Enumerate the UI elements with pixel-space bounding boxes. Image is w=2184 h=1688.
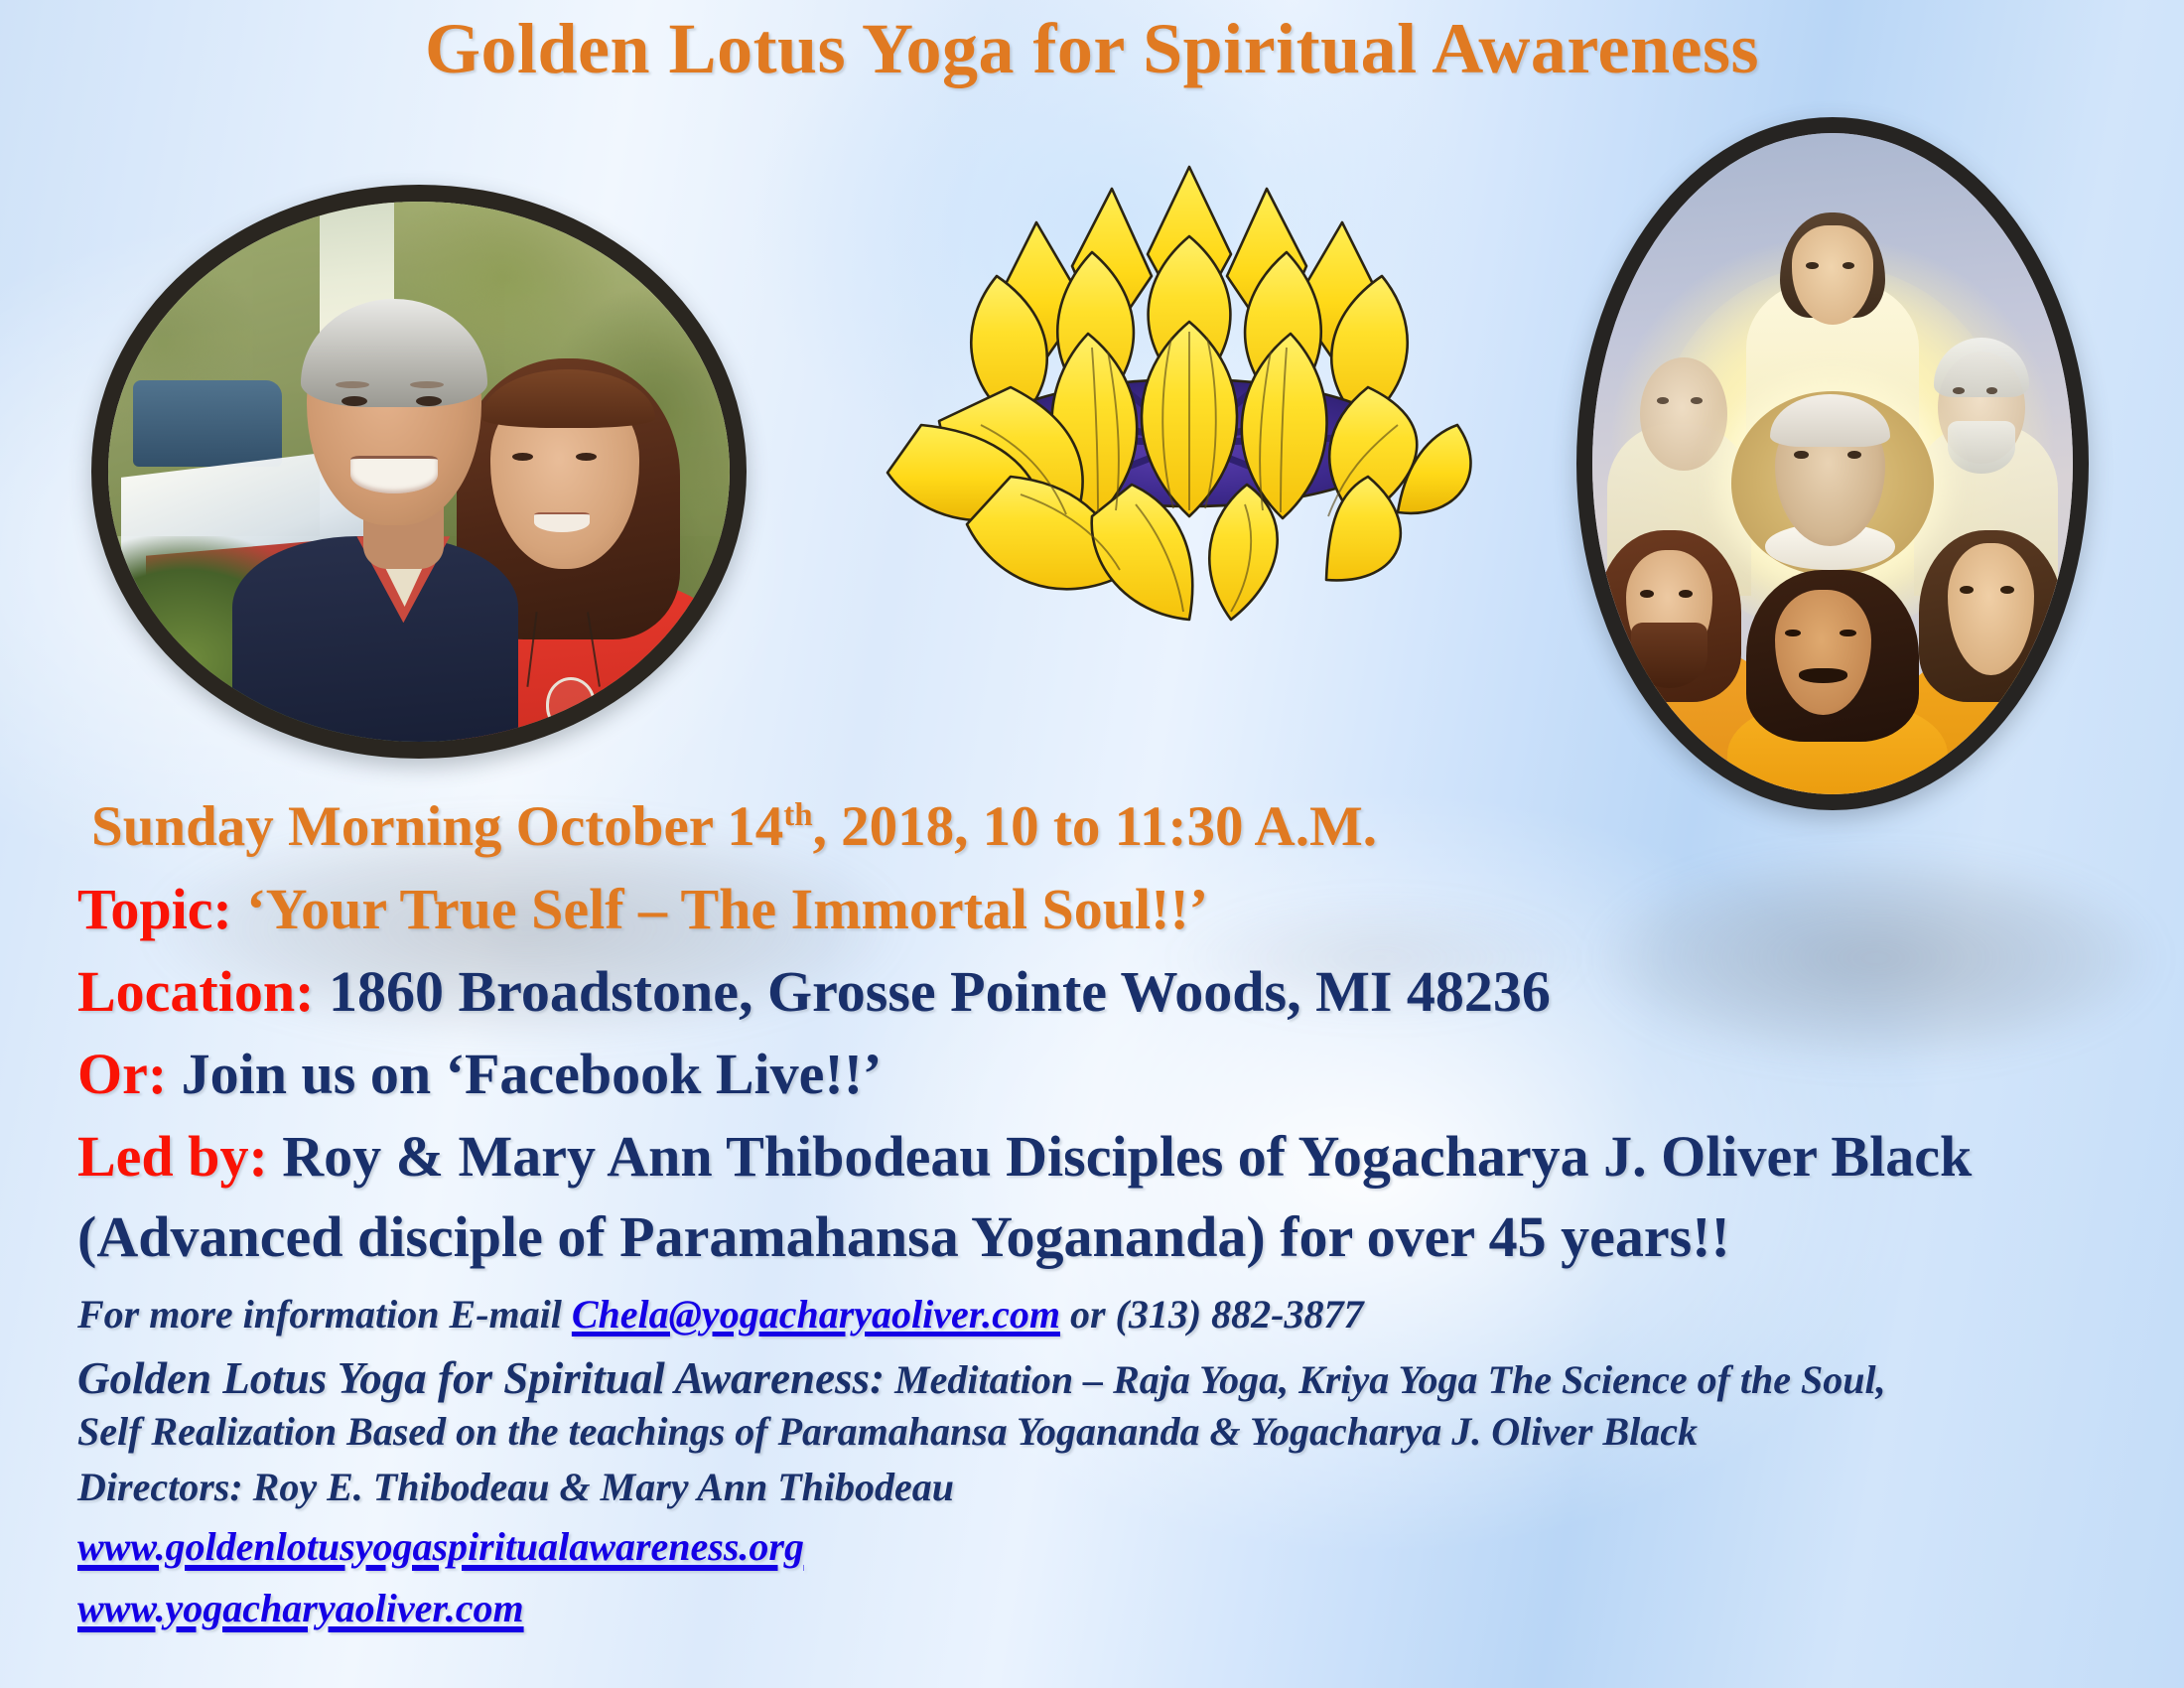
description-line-1: Golden Lotus Yoga for Spiritual Awarenes…	[77, 1352, 1886, 1404]
guru-babaji-eye-left	[1806, 262, 1819, 269]
website-link-secondary[interactable]: www.yogacharyaoliver.com	[77, 1585, 524, 1631]
contact-prefix: For more information E-mail	[77, 1292, 572, 1336]
location-label: Location:	[77, 959, 314, 1024]
led-by-line: Led by: Roy & Mary Ann Thibodeau Discipl…	[77, 1123, 1972, 1190]
guru-jesus-beard	[1631, 623, 1707, 689]
alternative-line: Or: Join us on ‘Facebook Live!!’	[77, 1041, 882, 1107]
description-rest: Meditation – Raja Yoga, Kriya Yoga The S…	[885, 1357, 1886, 1402]
flyer-canvas: Golden Lotus Yoga for Spiritual Awarenes…	[0, 0, 2184, 1688]
guru-yogananda-moustache	[1799, 668, 1846, 683]
guru-yukteswar-eye-left	[1953, 387, 1965, 394]
topic-value: ‘Your True Self – The Immortal Soul!!’	[246, 877, 1208, 941]
guru-center-eye-left	[1794, 451, 1809, 460]
photo-man-eye-left	[341, 396, 367, 406]
photo-man-brow-left	[336, 381, 369, 388]
guru-lahiri-head	[1640, 357, 1726, 470]
guru-jesus-eye-right	[1679, 590, 1693, 598]
contact-email-link[interactable]: Chela@yogacharyaoliver.com	[572, 1292, 1060, 1336]
event-date-line: Sunday Morning October 14th, 2018, 10 to…	[91, 794, 1377, 859]
couple-photo	[91, 185, 747, 759]
location-value: 1860 Broadstone, Grosse Pointe Woods, MI…	[329, 959, 1551, 1024]
description-emphasis: Golden Lotus Yoga for Spiritual Awarenes…	[77, 1353, 885, 1403]
couple-photo-scene	[108, 202, 730, 742]
website-link-primary[interactable]: www.goldenlotusyogaspiritualawareness.or…	[77, 1523, 804, 1570]
flyer-title: Golden Lotus Yoga for Spiritual Awarenes…	[0, 8, 2184, 90]
event-date-prefix: Sunday Morning October 14	[91, 795, 783, 858]
contact-suffix: or (313) 882-3877	[1060, 1292, 1364, 1336]
event-date-superscript: th	[783, 797, 812, 833]
led-by-label: Led by:	[77, 1124, 268, 1189]
guru-yukteswar-beard	[1948, 421, 2015, 474]
guru-lahiri-eye-left	[1657, 397, 1669, 404]
lotus-flower-icon	[862, 127, 1517, 633]
directors-line: Directors: Roy E. Thibodeau & Mary Ann T…	[77, 1464, 954, 1510]
event-date-suffix: , 2018, 10 to 11:30 A.M.	[813, 795, 1377, 858]
led-by-value: Roy & Mary Ann Thibodeau Disciples of Yo…	[282, 1124, 1972, 1189]
photo-car	[133, 380, 282, 467]
alternative-label: Or:	[77, 1042, 167, 1106]
photo-man-brow-right	[410, 381, 444, 388]
guru-jesus-eye-left	[1640, 590, 1654, 598]
alternative-value: Join us on ‘Facebook Live!!’	[182, 1042, 883, 1106]
led-by-continuation-line: (Advanced disciple of Paramahansa Yogana…	[77, 1203, 1730, 1270]
photo-necklace-pendant	[546, 677, 596, 732]
photo-man-smile	[350, 456, 438, 493]
contact-line: For more information E-mail Chela@yogach…	[77, 1291, 1364, 1337]
location-line: Location: 1860 Broadstone, Grosse Pointe…	[77, 958, 1551, 1025]
gurus-photo	[1576, 117, 2089, 810]
topic-label: Topic:	[77, 877, 232, 941]
topic-line: Topic: ‘Your True Self – The Immortal So…	[77, 876, 1208, 942]
background-shadow-blob-right	[1598, 854, 2154, 1062]
description-line-2: Self Realization Based on the teachings …	[77, 1408, 1698, 1455]
guru-lahiri-eye-right	[1691, 397, 1703, 404]
